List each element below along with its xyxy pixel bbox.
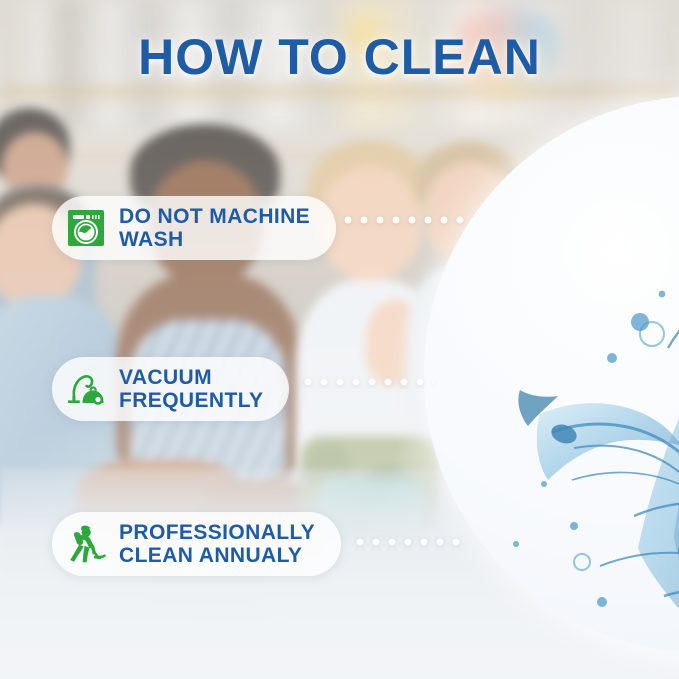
washing-machine-icon bbox=[66, 208, 106, 248]
connector-dots-2 bbox=[300, 378, 434, 386]
badge-do-not-machine-wash[interactable]: DO NOT MACHINE WASH bbox=[52, 196, 336, 260]
water-splash-graphic bbox=[424, 96, 679, 652]
vacuum-cleaner-icon bbox=[66, 369, 106, 409]
badge-label: DO NOT MACHINE WASH bbox=[119, 205, 310, 251]
badge-label: VACUUM FREQUENTLY bbox=[119, 366, 263, 412]
connector-dots-1 bbox=[340, 216, 466, 224]
badge-label: PROFESSIONALLY CLEAN ANNUALY bbox=[119, 521, 315, 567]
infographic-canvas: HOW TO CLEAN DO NOT MACHINE WASH bbox=[0, 0, 679, 679]
badge-professionally-clean-annualy[interactable]: PROFESSIONALLY CLEAN ANNUALY bbox=[52, 512, 341, 576]
child-figure-3 bbox=[112, 124, 302, 484]
badge-vacuum-frequently[interactable]: VACUUM FREQUENTLY bbox=[52, 357, 289, 421]
page-title: HOW TO CLEAN bbox=[0, 28, 679, 86]
professional-cleaner-icon bbox=[66, 524, 106, 564]
water-splash-circle bbox=[424, 96, 679, 652]
connector-dots-3 bbox=[352, 538, 464, 546]
